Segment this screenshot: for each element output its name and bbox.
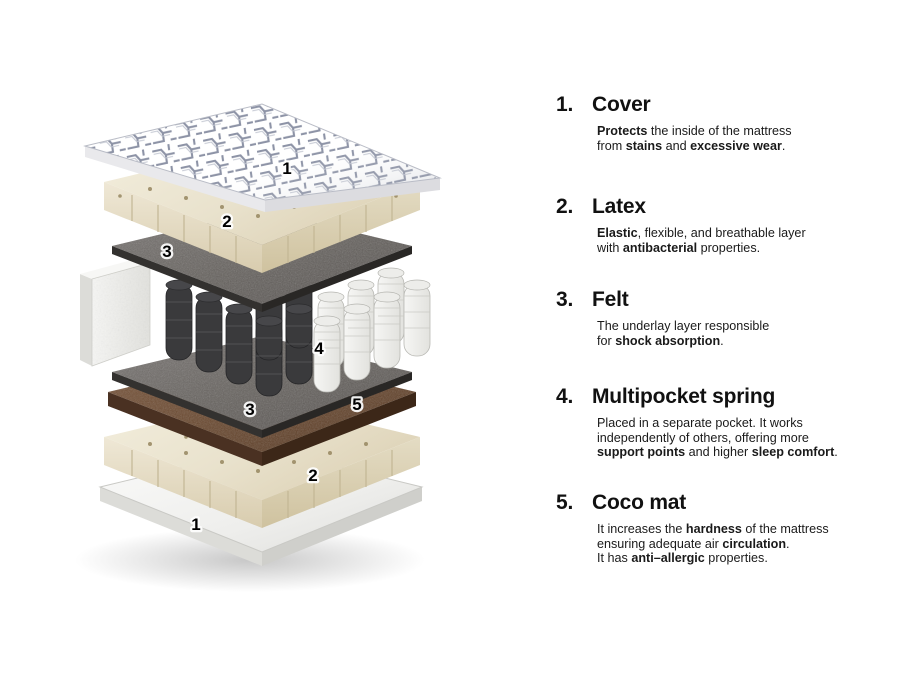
svg-text:2: 2 (222, 212, 231, 231)
legend-entry-coco-mat: 5. Coco mat It increases the hardness of… (556, 492, 886, 566)
svg-text:1: 1 (282, 159, 291, 178)
legend-entry-heading: 1. Cover (556, 94, 886, 115)
svg-text:3: 3 (162, 242, 171, 261)
legend-entry-heading: 5. Coco mat (556, 492, 886, 513)
legend-entry-number: 3. (556, 289, 592, 310)
page-root: 1 1 2 2 3 3 4 4 3 3 5 5 2 2 1 1 (0, 0, 900, 675)
legend-entry-number: 5. (556, 492, 592, 513)
legend-entry-number: 1. (556, 94, 592, 115)
legend-entry-multipocket-spring: 4. Multipocket spring Placed in a separa… (556, 386, 886, 460)
legend-entry-body: Protects the inside of the mattressfrom … (597, 124, 886, 153)
legend-entry-latex: 2. Latex Elastic, flexible, and breathab… (556, 196, 886, 255)
legend-entry-heading: 3. Felt (556, 289, 886, 310)
legend-entry-body: Elastic, flexible, and breathable layerw… (597, 226, 886, 255)
mattress-exploded-illustration: 1 1 2 2 3 3 4 4 3 3 5 5 2 2 1 1 (0, 0, 520, 675)
legend-entry-body: The underlay layer responsiblefor shock … (597, 319, 886, 348)
legend-entry-title: Felt (592, 289, 629, 310)
legend-entry-cover: 1. Cover Protects the inside of the matt… (556, 94, 886, 153)
legend-entry-title: Latex (592, 196, 646, 217)
svg-text:5: 5 (352, 395, 361, 414)
legend-entry-title: Coco mat (592, 492, 686, 513)
foam-edge-block (80, 258, 150, 366)
svg-text:3: 3 (245, 400, 254, 419)
legend-entry-title: Multipocket spring (592, 386, 775, 407)
legend-entry-heading: 2. Latex (556, 196, 886, 217)
legend-entry-heading: 4. Multipocket spring (556, 386, 886, 407)
legend-entry-body: It increases the hardness of the mattres… (597, 522, 886, 566)
legend-entry-title: Cover (592, 94, 651, 115)
legend-entry-number: 4. (556, 386, 592, 407)
svg-text:4: 4 (314, 339, 324, 358)
svg-text:1: 1 (191, 515, 200, 534)
legend-entry-body: Placed in a separate pocket. It worksind… (597, 416, 886, 460)
legend-entry-felt: 3. Felt The underlay layer responsiblefo… (556, 289, 886, 348)
svg-text:2: 2 (308, 466, 317, 485)
legend-entry-number: 2. (556, 196, 592, 217)
